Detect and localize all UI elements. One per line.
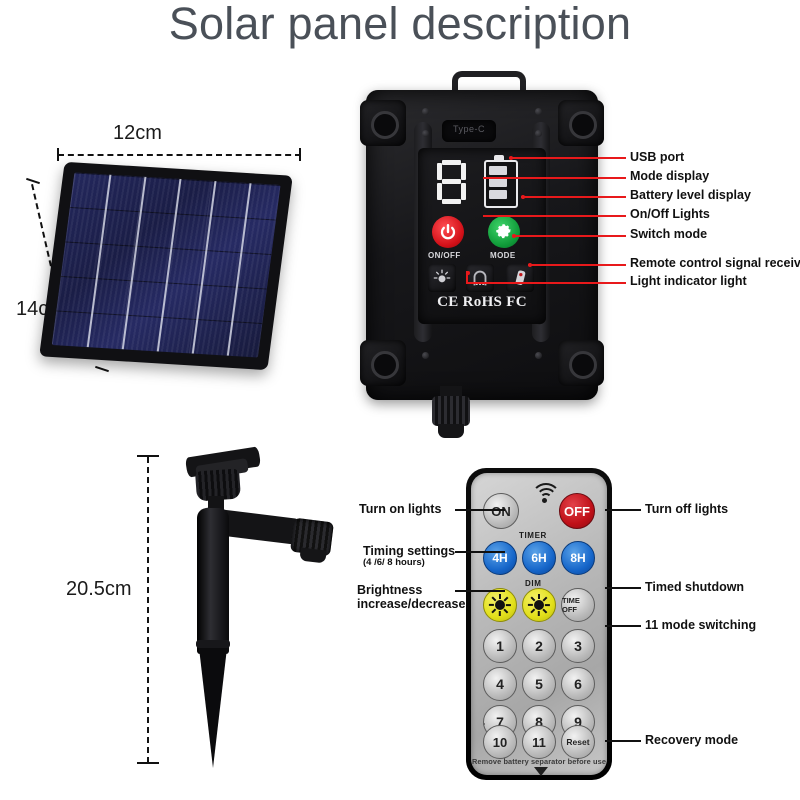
remote-footer-note: Remove battery separator before use — [471, 757, 607, 766]
sensor-window-icon — [466, 264, 494, 292]
remote-button-1[interactable]: 1 — [483, 629, 517, 663]
callout-brightness: Brightness increase/decrease — [357, 583, 465, 612]
battery-level-display — [484, 160, 518, 208]
remote-button-dim-down[interactable] — [483, 588, 517, 622]
timer-section-label: TIMER — [519, 531, 547, 540]
remote-control-signal-receiver — [506, 264, 534, 292]
remote-button-on[interactable]: ON — [483, 493, 519, 529]
stake-tick-bottom — [137, 762, 159, 764]
mount-tab-top-right — [558, 100, 604, 146]
usb-port-label: Type-C — [442, 124, 496, 134]
callout-timed-shutdown: Timed shutdown — [645, 580, 744, 594]
callout-light-indicator: Light indicator light — [630, 274, 747, 288]
signal-wave-icon — [531, 481, 557, 503]
panel-width-label: 12cm — [113, 122, 162, 145]
remote-button-4[interactable]: 4 — [483, 667, 517, 701]
remote-button-6[interactable]: 6 — [561, 667, 595, 701]
remote-button-8h[interactable]: 8H — [561, 541, 595, 575]
remote-button-10[interactable]: 10 — [483, 725, 517, 759]
stake-dim-line — [147, 457, 149, 763]
dim-tick-right — [299, 148, 301, 161]
callout-brightness-sub: increase/decrease — [357, 597, 465, 611]
screw-tl2 — [422, 130, 429, 137]
usb-port[interactable]: Type-C — [442, 120, 496, 142]
dim-section-label: DIM — [525, 579, 541, 588]
callout-timing-settings-sub: (4 /6/ 8 hours) — [363, 558, 455, 569]
stake-ring — [196, 640, 230, 648]
callout-recovery-mode: Recovery mode — [645, 733, 738, 747]
remote-button-reset[interactable]: Reset — [561, 725, 595, 759]
switch-mode-button[interactable] — [488, 216, 520, 248]
remote-button-2[interactable]: 2 — [522, 629, 556, 663]
mode-display — [435, 160, 469, 204]
callout-mode-display: Mode display — [630, 169, 709, 183]
panel-frame — [39, 162, 293, 370]
callout-remote-receiver: Remote control signal receiver — [630, 256, 800, 270]
panel-cells — [52, 172, 281, 357]
cable-gland — [432, 396, 470, 426]
screw-tr2 — [535, 130, 542, 137]
remote-control: ON OFF TIMER 4H 6H 8H DIM — [466, 468, 612, 780]
certification-marks: CE RoHS FC — [426, 294, 538, 311]
on-off-button-label: ON/OFF — [428, 251, 461, 260]
callout-switch-mode: Switch mode — [630, 227, 707, 241]
remote-button-5[interactable]: 5 — [522, 667, 556, 701]
dim-line-width — [58, 154, 301, 156]
screw-tl — [422, 108, 429, 115]
remote-button-6h[interactable]: 6H — [522, 541, 556, 575]
mode-button-label: MODE — [490, 251, 516, 260]
product-description-canvas: Solar panel description 12cm 14cm — [0, 0, 800, 800]
on-off-lights-button[interactable] — [432, 216, 464, 248]
brightness-icon — [489, 594, 511, 616]
cable-gland-cap — [438, 424, 464, 438]
callout-timing-settings: Timing settings (4 /6/ 8 hours) — [363, 544, 455, 569]
stake-tube — [197, 508, 229, 654]
screw-tr — [535, 108, 542, 115]
callout-on-off-lights: On/Off Lights — [630, 207, 710, 221]
remote-button-time-off[interactable]: TIME OFF — [561, 588, 595, 622]
remote-button-11[interactable]: 11 — [522, 725, 556, 759]
callout-usb-port: USB port — [630, 150, 684, 164]
callout-turn-off-lights: Turn off lights — [645, 502, 728, 516]
remote-button-off[interactable]: OFF — [559, 493, 595, 529]
down-arrow-icon — [534, 767, 548, 776]
callout-battery-level: Battery level display — [630, 188, 751, 202]
control-box: Type-C — [366, 90, 598, 400]
screw-br2 — [535, 352, 542, 359]
callout-turn-on-lights: Turn on lights — [359, 502, 441, 516]
mount-tab-bottom-right — [558, 340, 604, 386]
mount-tab-top-left — [360, 100, 406, 146]
mount-tab-bottom-left — [360, 340, 406, 386]
remote-button-dim-up[interactable] — [522, 588, 556, 622]
panel-knob-cap — [299, 547, 326, 563]
light-indicator-light — [428, 264, 456, 292]
remote-button-3[interactable]: 3 — [561, 629, 595, 663]
page-title: Solar panel description — [0, 0, 800, 50]
remote-button-4h[interactable]: 4H — [483, 541, 517, 575]
callout-mode-switching: 11 mode switching — [645, 618, 756, 632]
stake-spike — [199, 648, 227, 768]
remote-faceplate: ON OFF TIMER 4H 6H 8H DIM — [471, 473, 607, 775]
brightness-icon-2 — [528, 594, 550, 616]
stake-height-label: 20.5cm — [66, 578, 132, 601]
screw-bl2 — [422, 352, 429, 359]
